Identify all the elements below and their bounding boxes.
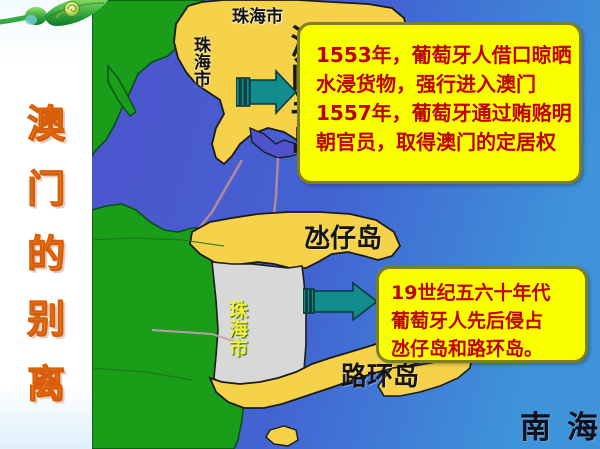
callout-19c-line-2: 葡萄牙人先后侵占: [391, 307, 585, 335]
title-char-4: 别: [27, 299, 65, 339]
leaf-snail-icon: [0, 0, 110, 40]
title-char-5: 离: [27, 364, 65, 404]
callout-1553-line-2: 水浸货物，强行进入澳门: [316, 70, 567, 99]
callout-1553: 1553年，葡萄牙人借口晾晒 水浸货物，强行进入澳门 1557年，葡萄牙通过贿赂…: [297, 22, 582, 184]
title-char-1: 澳: [27, 104, 65, 144]
callout-19th-century: 19世纪五六十年代 葡萄牙人先后侵占 氹仔岛和路环岛。: [376, 266, 588, 363]
callout-1553-line-4: 朝官员，取得澳门的定居权: [316, 128, 567, 157]
arrow-to-callout-2: [303, 280, 379, 328]
title-char-2: 门: [27, 169, 65, 209]
slide-canvas: 珠海市 珠海市 珠海市 澳门半岛 氹仔岛 路环岛 珠江 南海: [0, 0, 600, 449]
callout-1553-line-3: 1557年，葡萄牙通过贿赂明: [316, 99, 567, 128]
cotai-reclaimed-land: [212, 262, 306, 384]
slide-title-vertical: 澳 门 的 别 离: [0, 104, 92, 404]
title-char-3: 的: [27, 234, 65, 274]
callout-19c-line-3: 氹仔岛和路环岛。: [391, 335, 585, 363]
callout-19c-line-1: 19世纪五六十年代: [391, 279, 585, 307]
arrow-to-callout-1: [236, 68, 298, 120]
callout-1553-line-1: 1553年，葡萄牙人借口晾晒: [316, 41, 567, 70]
